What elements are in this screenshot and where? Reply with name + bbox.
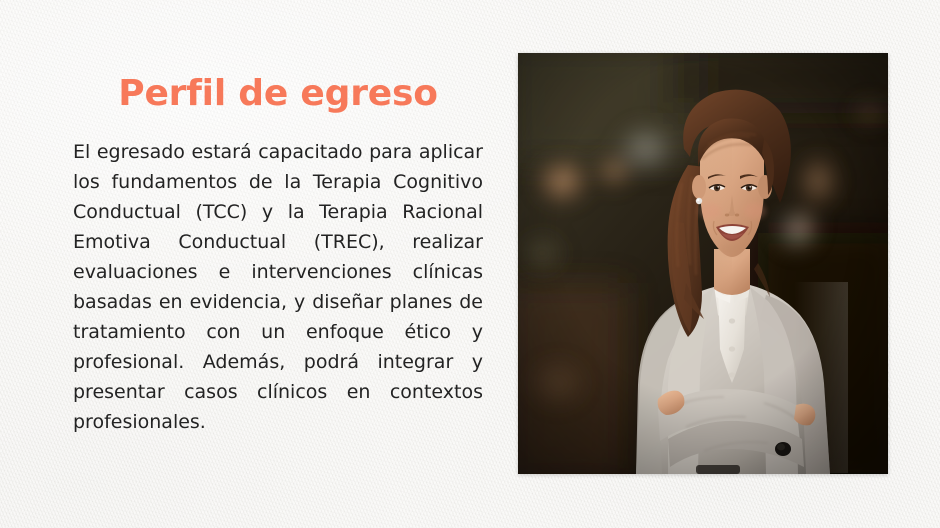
presentation-slide: Perfil de egreso El egresado estará capa… — [0, 0, 940, 528]
portrait-illustration — [518, 53, 888, 474]
text-column: Perfil de egreso El egresado estará capa… — [73, 72, 483, 437]
page-title: Perfil de egreso — [73, 72, 483, 116]
body-paragraph: El egresado estará capacitado para aplic… — [73, 116, 483, 437]
portrait-photo — [518, 53, 888, 474]
